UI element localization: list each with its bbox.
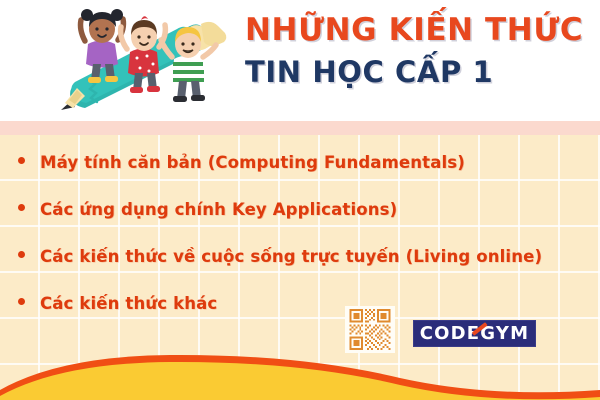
- pink-divider-band: [0, 121, 600, 135]
- bullet-dot-icon: [18, 298, 25, 305]
- list-item-label: Các ứng dụng chính Key Applications): [40, 200, 397, 219]
- list-item: Các ứng dụng chính Key Applications): [18, 200, 588, 247]
- page-title-line-1: NHỮNG KIẾN THỨC: [245, 10, 595, 50]
- list-item: Máy tính căn bản (Computing Fundamentals…: [18, 153, 588, 200]
- bullet-dot-icon: [18, 204, 25, 211]
- poster-header: NHỮNG KIẾN THỨC TIN HỌC CẤP 1: [0, 0, 600, 121]
- list-item-label: Các kiến thức về cuộc sống trực tuyến (L…: [40, 247, 542, 266]
- bullet-dot-icon: [18, 157, 25, 164]
- page-title-line-2: TIN HỌC CẤP 1: [245, 52, 595, 92]
- list-item: Các kiến thức về cuộc sống trực tuyến (L…: [18, 247, 588, 294]
- bottom-wave-decoration: [0, 338, 600, 400]
- codegym-logo[interactable]: CODEGYM: [413, 320, 536, 347]
- list-item-label: Các kiến thức khác: [40, 294, 217, 313]
- bullet-dot-icon: [18, 251, 25, 258]
- qr-code-icon[interactable]: [345, 306, 395, 353]
- poster-canvas: NHỮNG KIẾN THỨC TIN HỌC CẤP 1 Máy tính c…: [0, 0, 600, 400]
- list-item-label: Máy tính căn bản (Computing Fundamentals…: [40, 153, 465, 172]
- three-children-riding-pencil-illustration: [55, 2, 245, 118]
- topics-list: Máy tính căn bản (Computing Fundamentals…: [18, 153, 588, 341]
- poster-title-block: NHỮNG KIẾN THỨC TIN HỌC CẤP 1: [245, 10, 595, 110]
